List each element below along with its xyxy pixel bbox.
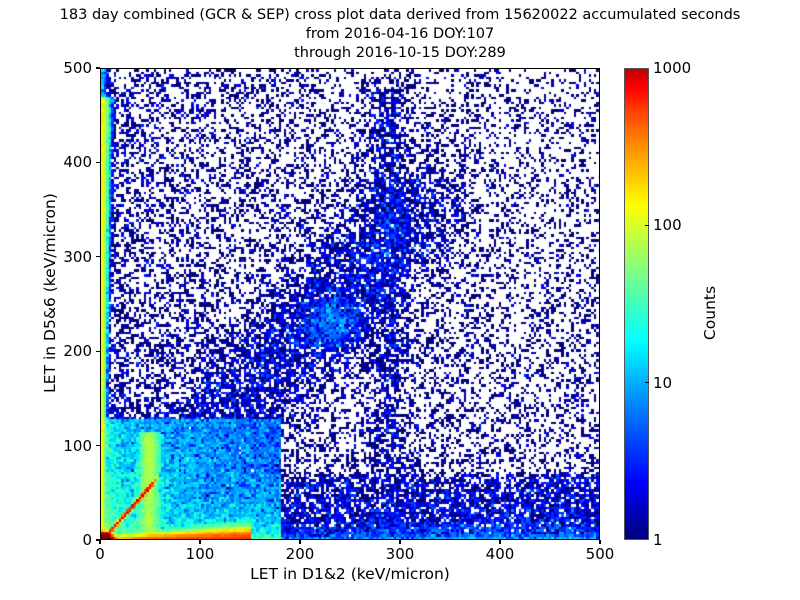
y-tick-label: 100 [63,437,92,455]
y-tick-mark [96,539,100,540]
x-axis-label: LET in D1&2 (keV/micron) [100,565,600,583]
y-tick-mark [96,256,100,257]
chart-title: 183 day combined (GCR & SEP) cross plot … [0,6,800,63]
x-tick-label: 400 [486,545,515,563]
colorbar-tick-label: 1000 [653,59,691,77]
x-tick-label: 300 [386,545,415,563]
colorbar-tick-mark [645,382,649,383]
x-tick-mark [199,540,200,544]
colorbar-tick-label: 1 [653,531,663,549]
colorbar-tick-label: 100 [653,216,682,234]
x-tick-label: 100 [186,545,215,563]
x-tick-mark [299,540,300,544]
y-tick-label: 300 [63,248,92,266]
x-tick-label: 500 [586,545,615,563]
y-axis-label: LET in D5&6 (keV/micron) [41,93,59,493]
chart-title-line-2: from 2016-04-16 DOY:107 [0,25,800,44]
y-tick-mark [96,67,100,68]
y-tick-mark [96,162,100,163]
colorbar-tick-label: 10 [653,374,672,392]
x-tick-label: 0 [95,545,105,563]
colorbar-gradient [624,68,649,540]
y-tick-mark [96,445,100,446]
y-tick-label: 0 [82,531,92,549]
plot-axes [100,68,600,540]
y-tick-mark [96,351,100,352]
colorbar-label: Counts [701,223,719,403]
x-tick-mark [399,540,400,544]
colorbar-tick-mark [645,225,649,226]
x-tick-mark [599,540,600,544]
x-tick-mark [499,540,500,544]
y-tick-label: 400 [63,153,92,171]
chart-title-line-1: 183 day combined (GCR & SEP) cross plot … [0,6,800,25]
x-tick-label: 200 [286,545,315,563]
y-tick-label: 200 [63,342,92,360]
density-scatter-plot [101,69,600,540]
y-tick-label: 500 [63,59,92,77]
figure-canvas: 183 day combined (GCR & SEP) cross plot … [0,0,800,600]
